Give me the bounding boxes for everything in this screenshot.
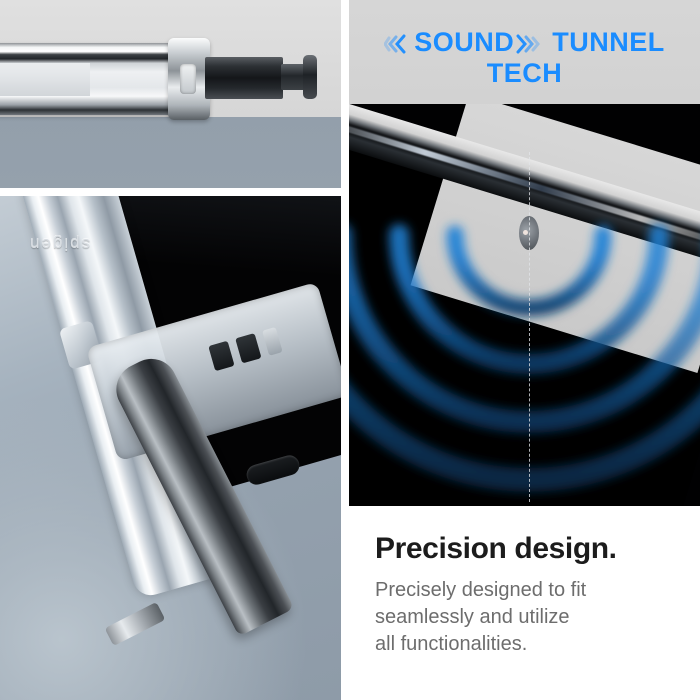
headline-word-sound: SOUND — [414, 27, 514, 57]
case-inner-surface — [0, 63, 90, 96]
spigen-brand-emboss: spigen — [28, 234, 90, 254]
case-end-cap — [168, 38, 210, 120]
panel-background-lower — [0, 117, 341, 188]
copy-body-line-2: seamlessly and utilize — [375, 604, 700, 631]
panel-stylus-insert: SP681 LH — [0, 0, 341, 188]
headline-line-1: SOUND TUNNEL — [349, 28, 700, 56]
stylus-end-cap — [303, 55, 317, 99]
panel-copy: Precision design. Precisely designed to … — [349, 506, 700, 700]
tray-slot — [235, 333, 261, 364]
panel-stylus-detail: spigen — [0, 196, 341, 700]
panel-sound-header: SOUND TUNNEL TECH — [349, 0, 700, 104]
copy-body: Precisely designed to fit seamlessly and… — [375, 577, 700, 657]
stylus-slot-opening — [180, 64, 196, 94]
sound-wave-right-icon — [514, 29, 544, 51]
headline-word-tunnel: TUNNEL — [552, 27, 665, 57]
panel-sound-visual — [349, 104, 700, 506]
tray-slot — [208, 341, 234, 372]
copy-title: Precision design. — [375, 532, 700, 565]
sound-wave-arcs — [349, 104, 700, 506]
stylus-collar — [105, 602, 166, 646]
headline-block: SOUND TUNNEL TECH — [349, 28, 700, 88]
copy-body-line-1: Precisely designed to fit — [375, 577, 700, 604]
stylus-body — [205, 57, 283, 99]
speaker-port-highlight — [523, 230, 528, 235]
tray-latch — [262, 327, 283, 356]
sound-wave-left-icon — [384, 29, 414, 51]
product-feature-poster: SP681 LH spigen SOUND TUNNEL TECH — [0, 0, 700, 700]
headline-line-2: TECH — [349, 59, 700, 87]
copy-body-line-3: all functionalities. — [375, 631, 700, 658]
center-guide-line — [529, 152, 530, 502]
